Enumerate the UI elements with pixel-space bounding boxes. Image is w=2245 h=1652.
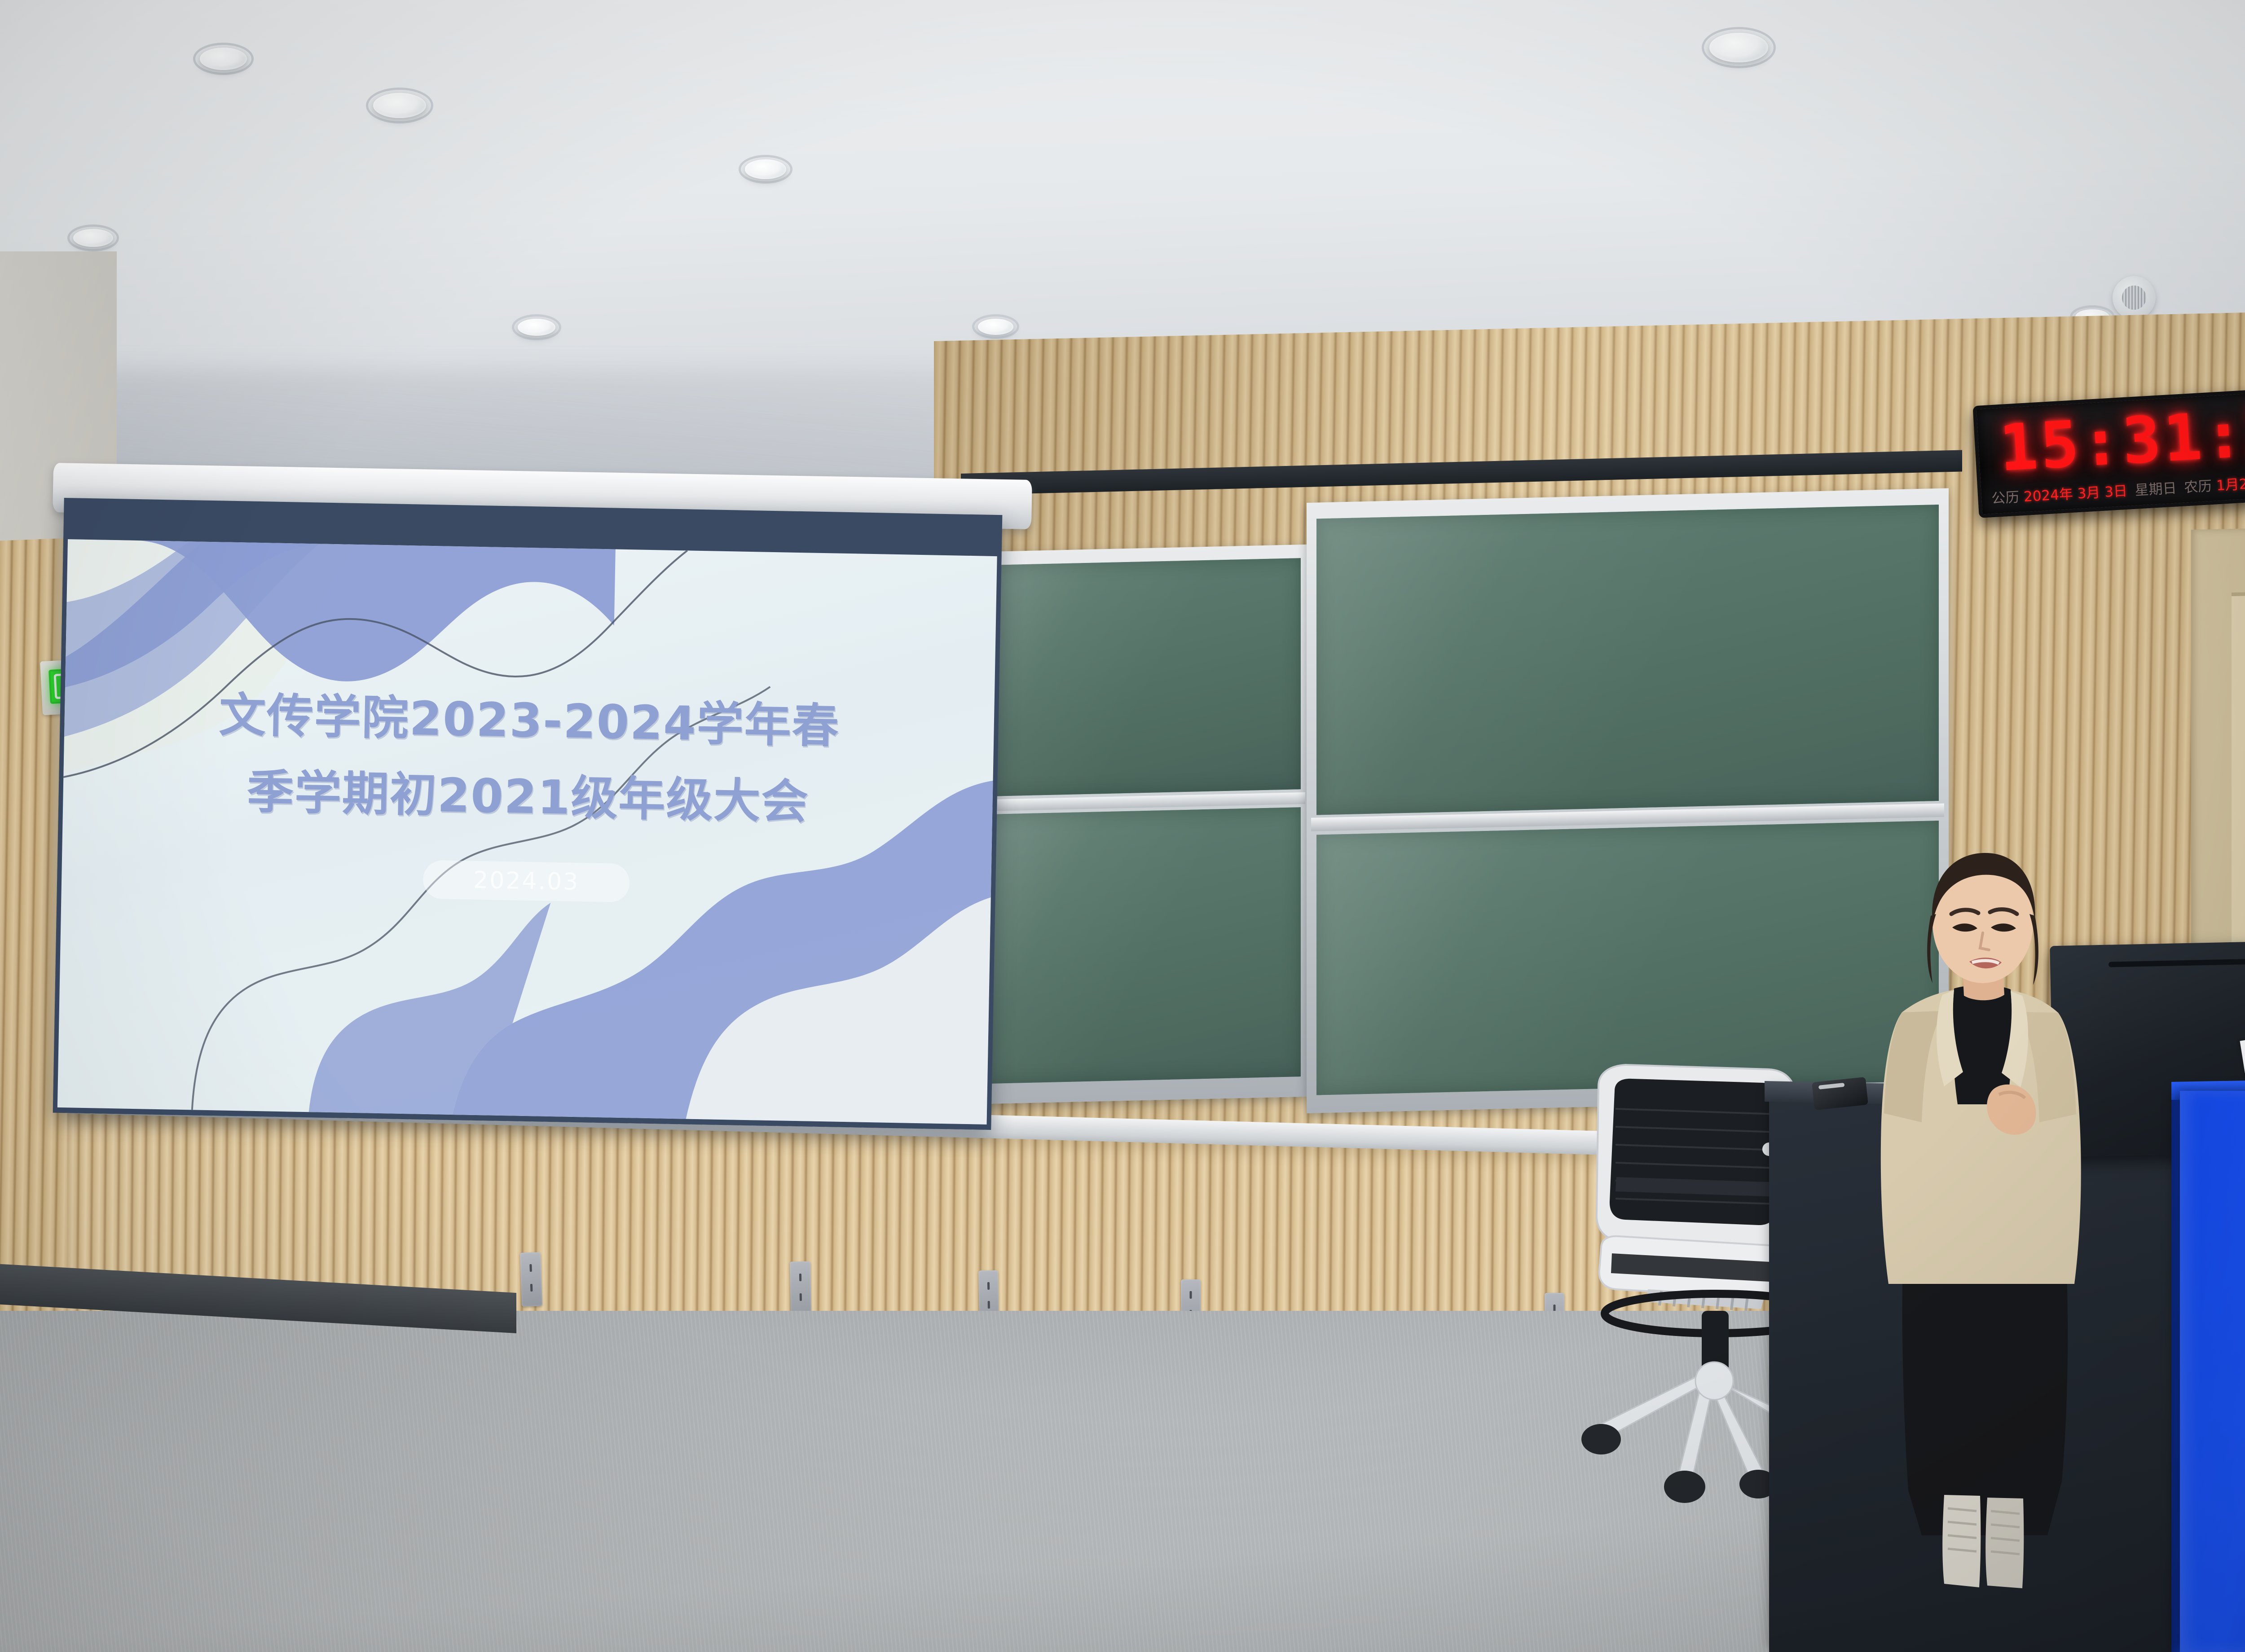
projection-screen[interactable]: 文传学院2023-2024学年春 季学期初2021级年级大会 2024.03 [53, 498, 1003, 1130]
led-wall-clock: 15:31:14 公历 2024年 3月 3日 星期日 农历 1月23日 温度 … [1973, 384, 2245, 518]
clock-lunar-label: 农历 [2183, 478, 2212, 496]
ceiling-downlight-icon [200, 48, 247, 70]
clock-day: 3日 [2104, 483, 2128, 501]
podium [2180, 1091, 2245, 1652]
ceiling-downlight-ring [67, 224, 119, 251]
speaker-person [1859, 835, 2146, 1598]
ceiling-downlight-ring [739, 155, 792, 184]
ceiling-downlight-ring [512, 314, 561, 340]
slide-surface: 文传学院2023-2024学年春 季学期初2021级年级大会 2024.03 [57, 539, 997, 1125]
chalkboard-left-frame [968, 545, 1309, 1104]
ceiling-downlight-ring [193, 43, 254, 75]
chalkboard-right-frame [1307, 488, 1949, 1113]
ceiling-downlight-ring [366, 88, 433, 123]
green-chalkboard-right-lower [1316, 821, 1939, 1095]
green-chalkboard-right-upper [1316, 505, 1939, 815]
ceiling-downlight-icon [1709, 33, 1768, 62]
clock-month: 3月 [2077, 484, 2101, 502]
lecture-hall-photo: 文传学院2023-2024学年春 季学期初2021级年级大会 2024.03 1… [0, 0, 2245, 1652]
ceiling-downlight-ring [1702, 27, 1776, 68]
green-chalkboard-left-lower [976, 807, 1301, 1084]
ceiling-speaker-icon [2113, 276, 2156, 319]
ceiling-downlight-icon [73, 229, 113, 247]
wall-outlet[interactable] [790, 1261, 811, 1317]
clock-lunar-date: 1月23日 [2216, 475, 2245, 494]
green-chalkboard-left-upper [976, 558, 1301, 796]
wall-outlet[interactable] [520, 1252, 542, 1307]
ceiling-downlight-icon [518, 319, 555, 336]
clock-calendar-label: 公历 [1991, 489, 2020, 507]
ceiling-downlight-ring [972, 314, 1019, 339]
clock-weekday: 星期日 [2135, 480, 2177, 499]
ceiling-downlight-icon [978, 319, 1014, 335]
clock-time-display: 15:31:14 [1976, 391, 2245, 487]
slide-date-badge: 2024.03 [423, 860, 630, 902]
ceiling-downlight-icon [373, 93, 426, 118]
ceiling-downlight-icon [745, 159, 786, 179]
clock-year: 2024年 [2023, 486, 2073, 505]
